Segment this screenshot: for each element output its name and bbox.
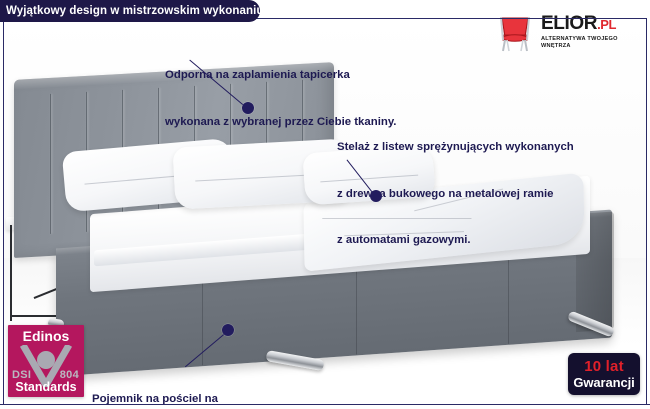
logo-brand: ELIOR [541,13,597,34]
edinos-title: Edinos [8,328,84,344]
logo-wordmark: ELIOR.PL ALTERNATYWA TWOJEGO WNĘTRZA [541,14,642,50]
callout-slat-frame-line1: Stelaż z listew sprężynujących wykonanyc… [337,140,574,156]
brand-logo[interactable]: ELIOR.PL ALTERNATYWA TWOJEGO WNĘTRZA [492,8,642,56]
logo-tld: .PL [597,17,616,32]
headline-text: Wyjątkowy design w mistrzowskim wykonani… [0,5,268,17]
callout-slat-frame-dot [370,190,382,202]
edinos-subtitle: Standards [8,380,84,394]
callout-storage-dot [222,324,234,336]
headline-banner: Wyjątkowy design w mistrzowskim wykonani… [0,0,260,22]
side-table-leg-left [10,225,12,321]
image-border-bottom [0,404,650,409]
callout-storage-text: Pojemnik na pościel na całej powierzchni… [92,361,221,409]
warranty-label: Gwarancji [573,375,634,390]
warranty-years: 10 lat [584,359,624,375]
red-chair-icon [492,9,538,55]
callout-upholstery-dot [242,102,254,114]
product-infographic: Wyjątkowy design w mistrzowskim wykonani… [0,0,650,409]
logo-tagline: ALTERNATYWA TWOJEGO WNĘTRZA [541,36,642,50]
warranty-badge: 10 lat Gwarancji [568,353,640,395]
edinos-standards-badge: Edinos DSI 804 Standards [8,325,84,397]
callout-slat-frame-line3: z automatami gazowymi. [337,233,574,249]
callout-upholstery-line1: Odporna na zaplamienia tapicerka [165,68,396,84]
